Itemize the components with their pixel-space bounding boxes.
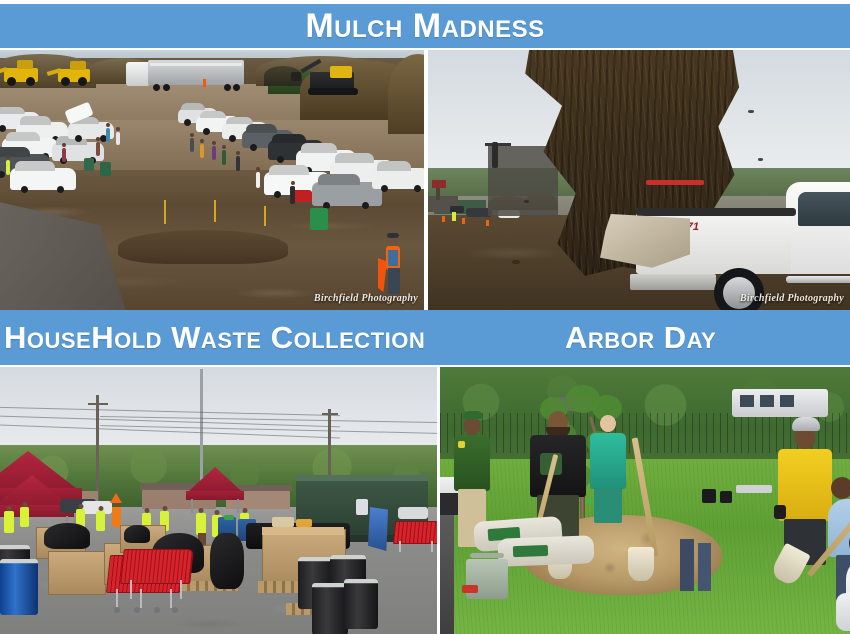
mulch-fleck xyxy=(758,158,763,161)
trailer-highlight xyxy=(150,63,242,66)
wheel-loader xyxy=(58,69,90,82)
shovel-blade xyxy=(628,547,654,581)
volunteer-vest xyxy=(20,507,29,527)
side-mirror xyxy=(492,142,498,168)
photo-household-waste-scene xyxy=(0,367,437,634)
person xyxy=(236,156,240,171)
photo-truck-loading-scene: Z71 4x4 xyxy=(428,50,850,310)
marker-stake xyxy=(214,200,216,222)
wheel xyxy=(163,84,170,91)
can-label xyxy=(462,585,478,593)
mulch-bag xyxy=(498,535,595,566)
volunteer-hi-vis xyxy=(6,160,10,175)
cardboard-box xyxy=(48,551,106,595)
collage-page: Mulch Madness xyxy=(0,0,850,634)
wheel-loader xyxy=(4,68,38,82)
banner-top: Mulch Madness xyxy=(0,4,850,48)
pavement-edge xyxy=(440,515,454,634)
mulch-bag xyxy=(836,593,850,631)
person xyxy=(200,144,204,158)
blue-drum xyxy=(0,559,38,615)
white-sign xyxy=(356,499,368,515)
volunteer-vest xyxy=(196,513,206,535)
black-bag xyxy=(44,523,90,549)
semi-tractor xyxy=(126,62,150,86)
table xyxy=(736,485,772,493)
marker-stake xyxy=(264,206,266,226)
box-on-table xyxy=(272,517,294,527)
watermark: Birchfield Photography xyxy=(314,293,418,304)
canopy-tent xyxy=(186,467,244,513)
safety-cone xyxy=(442,216,445,222)
excavator-bucket xyxy=(291,72,301,81)
safety-cone xyxy=(203,79,206,87)
pickup-truck: Z71 4x4 xyxy=(636,190,850,300)
flagger-legs xyxy=(388,268,400,294)
steel-drum xyxy=(312,583,348,634)
person xyxy=(62,148,66,162)
flagger-shirt xyxy=(388,250,398,266)
photo-mulch-yard: Birchfield Photography xyxy=(0,50,424,310)
nursery-pot xyxy=(720,491,732,503)
bed-rail xyxy=(636,208,796,216)
photo-truck-loading: Z71 4x4 Birchfield Photography xyxy=(428,50,850,310)
parked-car xyxy=(10,168,76,190)
photo-mulch-yard-scene xyxy=(0,50,424,310)
worker-hi-vis xyxy=(452,212,456,221)
photo-household-waste xyxy=(0,367,437,634)
trailer-window xyxy=(740,395,754,407)
item-on-table xyxy=(296,519,312,527)
photo-arbor-day xyxy=(440,367,850,634)
person-yellow-shirt xyxy=(778,413,832,563)
box-top xyxy=(262,527,344,535)
parked-car xyxy=(372,168,424,189)
person xyxy=(116,132,120,145)
volunteer-vest xyxy=(112,507,121,527)
mulch-spill xyxy=(118,230,288,264)
person xyxy=(212,146,216,160)
sign-post xyxy=(436,186,440,200)
section-title-arbor-day: Arbor Day xyxy=(565,322,716,353)
safety-cone xyxy=(486,220,489,226)
excavator-cab xyxy=(330,66,352,78)
steel-drum xyxy=(344,579,378,629)
brake-light xyxy=(646,180,704,185)
marker-stake xyxy=(164,200,166,224)
person-teal-shirt xyxy=(590,413,626,523)
black-bag xyxy=(124,525,150,543)
trailer-window xyxy=(780,395,794,407)
truck-window xyxy=(798,192,850,226)
section-title-household-waste: HouseHold Waste Collection xyxy=(4,322,425,353)
person xyxy=(256,172,260,188)
person xyxy=(106,128,110,142)
running-board xyxy=(786,276,850,283)
nursery-pot xyxy=(702,489,716,503)
trailer-window xyxy=(760,395,774,407)
volunteer-vest xyxy=(4,511,14,533)
person xyxy=(190,138,194,152)
can-handle xyxy=(470,553,504,558)
green-bin xyxy=(310,208,328,230)
mulch-fleck xyxy=(524,200,529,203)
sign xyxy=(432,180,446,188)
wheel xyxy=(233,84,240,91)
page-title: Mulch Madness xyxy=(305,9,544,43)
mirror-arm xyxy=(485,143,511,146)
excavator-track xyxy=(308,88,358,95)
shopping-cart xyxy=(122,549,190,603)
green-lid xyxy=(224,515,234,520)
wheel xyxy=(153,84,160,91)
green-bin xyxy=(84,158,94,171)
person xyxy=(96,142,100,156)
photo-arbor-day-scene xyxy=(440,367,850,634)
flagger-cap xyxy=(387,233,399,238)
pole-crossarm xyxy=(88,403,108,405)
person-legs xyxy=(680,539,694,591)
shopping-cart xyxy=(394,521,437,555)
person-legs xyxy=(698,543,711,591)
blue-tarp xyxy=(368,507,388,551)
parked-car xyxy=(398,507,428,519)
green-bin xyxy=(100,162,111,176)
mulch-fleck xyxy=(748,110,754,113)
black-bag xyxy=(210,533,244,589)
safety-cone xyxy=(462,218,465,224)
person xyxy=(222,150,226,165)
mulch-fleck xyxy=(512,260,520,264)
person xyxy=(290,186,295,204)
watering-can xyxy=(466,559,508,599)
wheel xyxy=(224,84,231,91)
rear-bumper xyxy=(630,274,716,290)
banner-middle: HouseHold Waste Collection Arbor Day xyxy=(0,310,850,365)
volunteer-vest xyxy=(96,511,105,531)
watermark: Birchfield Photography xyxy=(740,293,844,304)
